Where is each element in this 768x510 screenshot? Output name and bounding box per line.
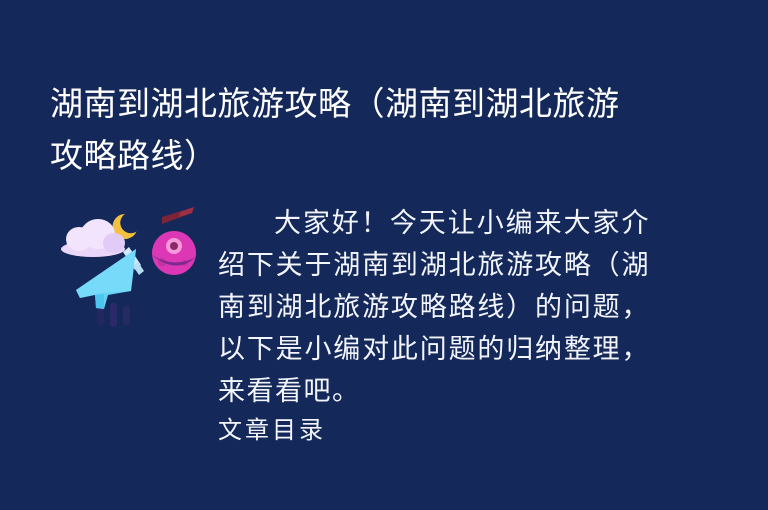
planet-icon [152, 231, 196, 275]
intro-paragraph: 大家好！今天让小编来大家介绍下关于湖南到湖北旅游攻略（湖南到湖北旅游攻略路线）的… [218, 203, 650, 413]
shooting-star-icon [162, 207, 194, 224]
megaphone-icon [76, 249, 136, 309]
article-page: 湖南到湖北旅游攻略（湖南到湖北旅游攻略路线） [0, 0, 768, 510]
page-title: 湖南到湖北旅游攻略（湖南到湖北旅游攻略路线） [50, 78, 650, 182]
toc-heading: 文章目录 [218, 413, 650, 447]
night-sky-megaphone-illustration [52, 205, 212, 345]
article-body: 大家好！今天让小编来大家介绍下关于湖南到湖北旅游攻略（湖南到湖北旅游攻略路线）的… [218, 203, 650, 447]
